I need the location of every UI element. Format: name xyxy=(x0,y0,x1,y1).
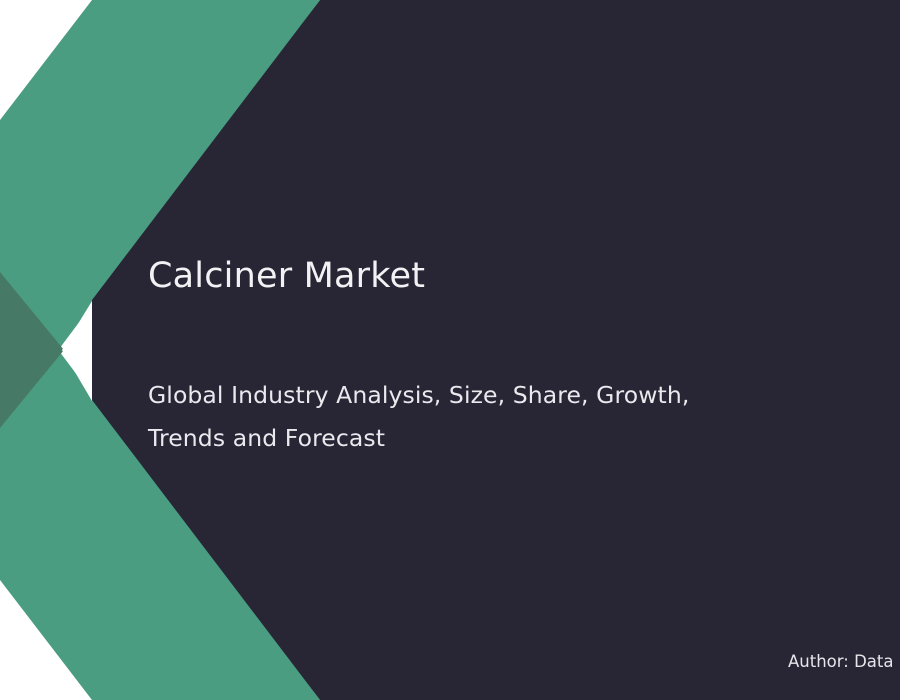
title-slide: Calciner Market Global Industry Analysis… xyxy=(0,0,900,700)
subtitle-line-2: Trends and Forecast xyxy=(148,417,808,460)
slide-content: Calciner Market Global Industry Analysis… xyxy=(0,0,900,700)
page-title: Calciner Market xyxy=(148,256,425,296)
subtitle-line-1: Global Industry Analysis, Size, Share, G… xyxy=(148,374,808,417)
slide-subtitle: Global Industry Analysis, Size, Share, G… xyxy=(148,374,808,460)
author-credit: Author: Data xyxy=(788,652,893,671)
